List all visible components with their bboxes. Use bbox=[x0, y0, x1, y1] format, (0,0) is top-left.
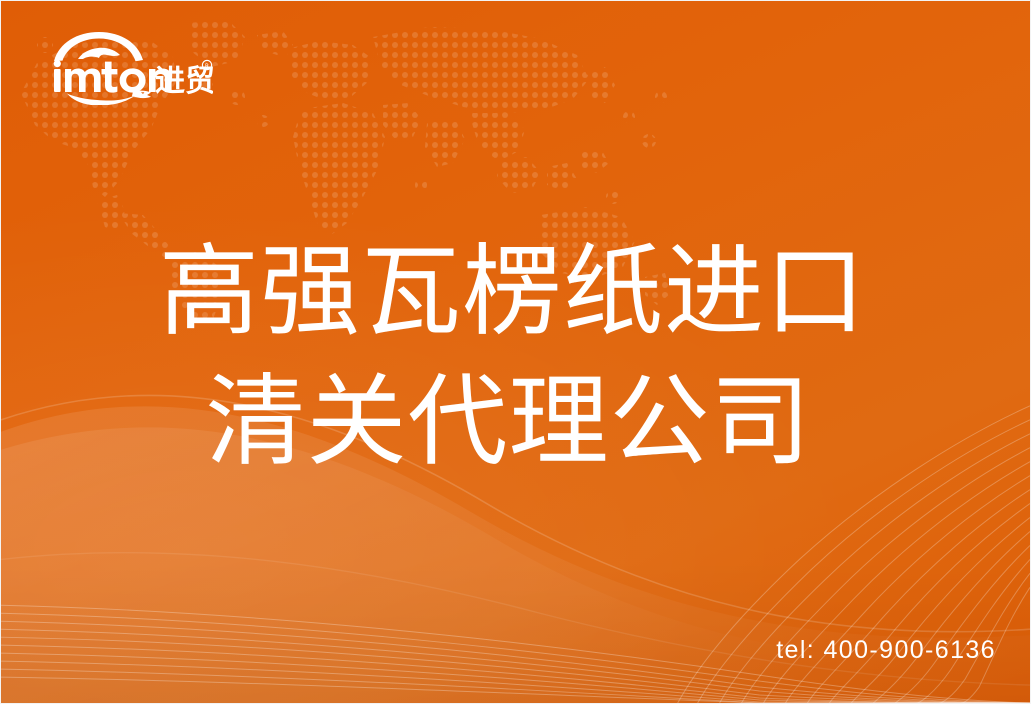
swoosh-icon bbox=[61, 91, 151, 105]
company-logo[interactable]: 进贸通 R bbox=[37, 29, 213, 105]
promo-banner: 进贸通 R 高强瓦楞纸进口 清关代理公司 tel: 400-900-6136 bbox=[0, 0, 1031, 704]
svg-text:R: R bbox=[205, 63, 209, 70]
wordmark-imton bbox=[54, 60, 172, 93]
headline: 高强瓦楞纸进口 清关代理公司 bbox=[1, 227, 1031, 487]
globe-arc-icon bbox=[54, 32, 143, 61]
headline-line-2: 清关代理公司 bbox=[1, 357, 1031, 487]
contact-phone[interactable]: tel: 400-900-6136 bbox=[776, 636, 996, 665]
headline-line-1: 高强瓦楞纸进口 bbox=[1, 227, 1031, 357]
